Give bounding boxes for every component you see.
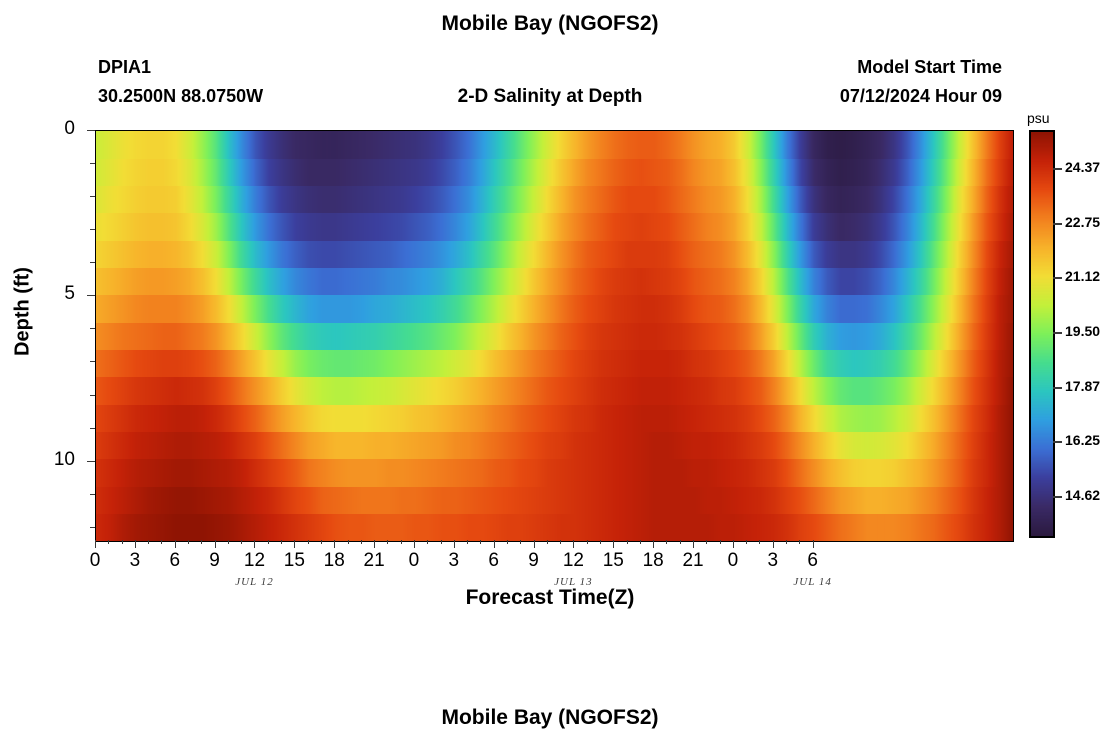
colorbar-tick-label: 14.625 — [1065, 487, 1100, 503]
x-axis-tick — [374, 540, 375, 548]
x-axis-minor-tick — [627, 540, 628, 544]
x-axis-tick — [613, 540, 614, 548]
x-axis-tick-label: 0 — [75, 550, 115, 572]
colorbar-tick-label: 21.125 — [1065, 268, 1100, 284]
x-axis-minor-tick — [427, 540, 428, 544]
x-axis-tick-label: 3 — [115, 550, 155, 572]
x-axis-minor-tick — [547, 540, 548, 544]
y-axis-minor-tick — [90, 328, 95, 329]
y-axis-tick — [87, 461, 95, 462]
x-axis-tick — [653, 540, 654, 548]
x-axis-minor-tick — [281, 540, 282, 544]
x-axis-title: Forecast Time(Z) — [0, 586, 1100, 610]
x-axis-tick-label: 6 — [155, 550, 195, 572]
x-axis-tick — [733, 540, 734, 548]
colorbar-tick — [1053, 277, 1062, 279]
x-axis-tick — [135, 540, 136, 548]
station-id-label: DPIA1 — [98, 57, 151, 78]
colorbar-tick — [1053, 387, 1062, 389]
colorbar-unit-label: psu — [1027, 110, 1050, 126]
x-axis-tick-label: 9 — [195, 550, 235, 572]
x-axis-minor-tick — [401, 540, 402, 544]
x-axis-tick-label: 3 — [753, 550, 793, 572]
x-axis-tick — [494, 540, 495, 548]
x-axis-minor-tick — [441, 540, 442, 544]
x-axis-tick — [294, 540, 295, 548]
x-axis-minor-tick — [241, 540, 242, 544]
x-axis-minor-tick — [188, 540, 189, 544]
x-axis-tick — [534, 540, 535, 548]
y-axis-tick — [87, 295, 95, 296]
x-axis-minor-tick — [467, 540, 468, 544]
x-axis-minor-tick — [148, 540, 149, 544]
x-axis-tick — [334, 540, 335, 548]
x-axis-minor-tick — [560, 540, 561, 544]
x-axis-tick-label: 0 — [394, 550, 434, 572]
y-axis-tick-label: 10 — [35, 449, 75, 471]
x-axis-tick-label: 6 — [793, 550, 833, 572]
x-axis-minor-tick — [640, 540, 641, 544]
y-axis-minor-tick — [90, 229, 95, 230]
x-axis-minor-tick — [201, 540, 202, 544]
x-axis-tick-label: 15 — [593, 550, 633, 572]
y-axis-minor-tick — [90, 196, 95, 197]
x-axis-tick-label: 15 — [274, 550, 314, 572]
x-axis-minor-tick — [480, 540, 481, 544]
model-start-time-value: 07/12/2024 Hour 09 — [840, 86, 1002, 107]
page-title: Mobile Bay (NGOFS2) — [0, 12, 1100, 36]
y-axis-minor-tick — [90, 527, 95, 528]
x-axis-tick-label: 21 — [673, 550, 713, 572]
colorbar-tick — [1053, 441, 1062, 443]
x-axis-minor-tick — [587, 540, 588, 544]
x-axis-minor-tick — [680, 540, 681, 544]
y-axis-minor-tick — [90, 395, 95, 396]
x-axis-minor-tick — [666, 540, 667, 544]
colorbar-gradient — [1031, 132, 1053, 536]
x-axis-minor-tick — [387, 540, 388, 544]
x-axis-minor-tick — [706, 540, 707, 544]
footer-title: Mobile Bay (NGOFS2) — [0, 706, 1100, 730]
colorbar-tick-label: 16.250 — [1065, 432, 1100, 448]
x-axis-minor-tick — [348, 540, 349, 544]
y-axis-minor-tick — [90, 262, 95, 263]
y-axis-minor-tick — [90, 163, 95, 164]
salinity-heatmap-plot — [95, 130, 1014, 542]
x-axis-tick — [813, 540, 814, 548]
y-axis-minor-tick — [90, 494, 95, 495]
x-axis-tick — [454, 540, 455, 548]
x-axis-minor-tick — [600, 540, 601, 544]
y-axis-tick — [87, 130, 95, 131]
x-axis-minor-tick — [361, 540, 362, 544]
colorbar — [1029, 130, 1055, 538]
x-axis-tick-label: 12 — [234, 550, 274, 572]
colorbar-tick-label: 22.750 — [1065, 214, 1100, 230]
y-axis-tick-label: 0 — [35, 118, 75, 140]
x-axis-minor-tick — [321, 540, 322, 544]
x-axis-tick-label: 0 — [713, 550, 753, 572]
x-axis-minor-tick — [786, 540, 787, 544]
x-axis-minor-tick — [228, 540, 229, 544]
colorbar-tick — [1053, 168, 1062, 170]
x-axis-tick-label: 18 — [314, 550, 354, 572]
y-axis-title: Depth (ft) — [12, 242, 35, 382]
colorbar-tick-label: 24.375 — [1065, 159, 1100, 175]
y-axis-tick-label: 5 — [35, 283, 75, 305]
x-axis-minor-tick — [108, 540, 109, 544]
colorbar-tick-label: 17.875 — [1065, 378, 1100, 394]
y-axis-minor-tick — [90, 428, 95, 429]
x-axis-minor-tick — [122, 540, 123, 544]
colorbar-tick — [1053, 223, 1062, 225]
x-axis-minor-tick — [507, 540, 508, 544]
x-axis-minor-tick — [161, 540, 162, 544]
x-axis-minor-tick — [746, 540, 747, 544]
colorbar-tick — [1053, 332, 1062, 334]
x-axis-tick — [773, 540, 774, 548]
y-axis-minor-tick — [90, 361, 95, 362]
x-axis-tick-label: 6 — [474, 550, 514, 572]
x-axis-minor-tick — [720, 540, 721, 544]
x-axis-tick-label: 9 — [514, 550, 554, 572]
x-axis-tick — [215, 540, 216, 548]
x-axis-tick — [254, 540, 255, 548]
x-axis-tick — [573, 540, 574, 548]
colorbar-tick-label: 19.500 — [1065, 323, 1100, 339]
x-axis-tick — [175, 540, 176, 548]
x-axis-tick — [95, 540, 96, 548]
x-axis-minor-tick — [268, 540, 269, 544]
heatmap-canvas — [96, 131, 1013, 541]
x-axis-minor-tick — [799, 540, 800, 544]
model-start-time-label: Model Start Time — [857, 57, 1002, 78]
x-axis-tick-label: 12 — [553, 550, 593, 572]
x-axis-minor-tick — [759, 540, 760, 544]
x-axis-minor-tick — [520, 540, 521, 544]
x-axis-tick-label: 21 — [354, 550, 394, 572]
x-axis-tick-label: 18 — [633, 550, 673, 572]
x-axis-minor-tick — [308, 540, 309, 544]
x-axis-tick-label: 3 — [434, 550, 474, 572]
x-axis-tick — [414, 540, 415, 548]
colorbar-tick — [1053, 496, 1062, 498]
x-axis-tick — [693, 540, 694, 548]
